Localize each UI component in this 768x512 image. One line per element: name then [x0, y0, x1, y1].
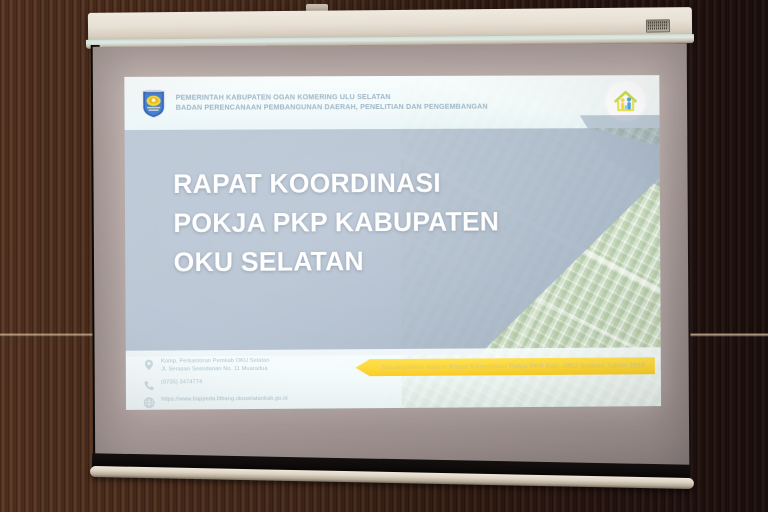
- header-line-2: BADAN PERENCANAAN PEMBANGUNAN DAERAH, PE…: [176, 102, 488, 113]
- title-line-1: RAPAT KOORDINASI: [173, 164, 499, 204]
- wall-groove: [726, 0, 728, 512]
- title-line-3: OKU SELATAN: [173, 241, 499, 282]
- projected-slide: PEMERINTAH KABUPATEN OGAN KOMERING ULU S…: [124, 75, 661, 410]
- map-pin-icon: [143, 358, 155, 370]
- contact-website: https://www.bappeda.litbang.okuselatanka…: [161, 394, 288, 403]
- slide-header: PEMERINTAH KABUPATEN OGAN KOMERING ULU S…: [124, 75, 659, 130]
- banner-text: Disampaikan dalam Rapat Koordinasi Pokja…: [382, 362, 645, 371]
- slide-footer: Komp. Perkantoran Pemkab OKU Selatan Jl.…: [126, 347, 661, 410]
- globe-icon: [143, 395, 155, 407]
- wall-groove: [44, 0, 46, 512]
- contact-phone-row: (0735) 3474774: [143, 378, 288, 391]
- address-line-1: Komp. Perkantoran Pemkab OKU Selatan: [161, 358, 270, 365]
- slide-banner: Disampaikan dalam Rapat Koordinasi Pokja…: [356, 357, 655, 376]
- contact-phone: (0735) 3474774: [161, 378, 202, 387]
- address-line-2: Jl. Serasan Seandanan No. 11 Muaradua: [161, 366, 268, 373]
- phone-icon: [143, 379, 155, 391]
- projector-screen: PEMERINTAH KABUPATEN OGAN KOMERING ULU S…: [78, 4, 700, 504]
- title-line-2: POKJA PKP KABUPATEN: [173, 202, 499, 243]
- contact-web-row: https://www.bappeda.litbang.okuselatanka…: [143, 394, 288, 407]
- slide-title: RAPAT KOORDINASI POKJA PKP KABUPATEN OKU…: [173, 164, 499, 283]
- contact-address: Komp. Perkantoran Pemkab OKU Selatan Jl.…: [161, 357, 270, 374]
- contact-block: Komp. Perkantoran Pemkab OKU Selatan Jl.…: [143, 357, 288, 410]
- contact-address-row: Komp. Perkantoran Pemkab OKU Selatan Jl.…: [143, 357, 288, 375]
- slide-header-text: PEMERINTAH KABUPATEN OGAN KOMERING ULU S…: [176, 93, 488, 113]
- screen-brand-plate: [646, 19, 670, 32]
- regency-crest-icon: [140, 88, 166, 119]
- meeting-room-scene: PEMERINTAH KABUPATEN OGAN KOMERING ULU S…: [0, 0, 768, 512]
